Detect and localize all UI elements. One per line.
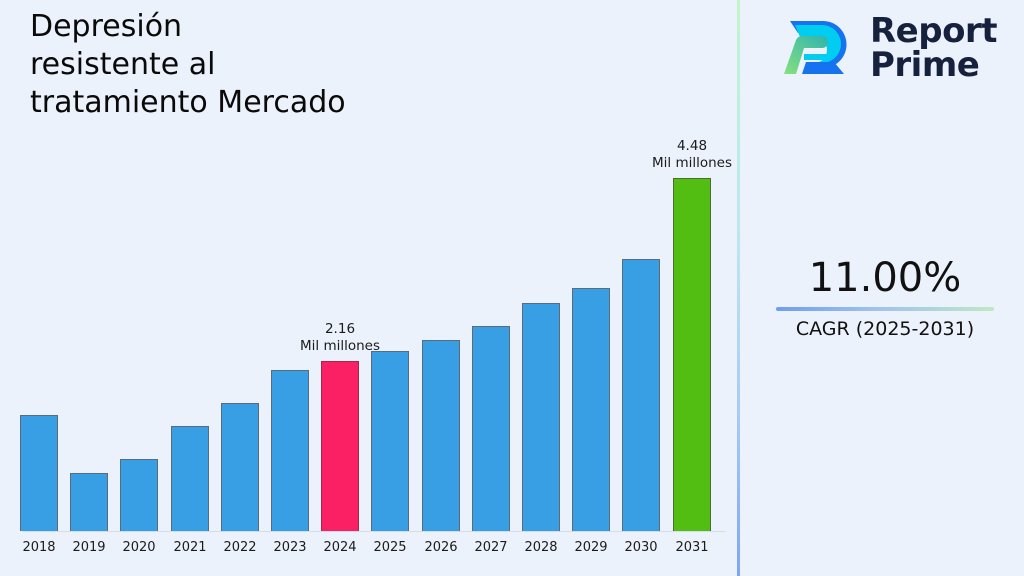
bar-2031 bbox=[673, 178, 711, 531]
vertical-gradient-divider bbox=[737, 0, 740, 576]
brand-name: Report Prime bbox=[870, 14, 997, 82]
x-axis-line bbox=[22, 531, 725, 532]
report-prime-r-logo-icon bbox=[782, 12, 856, 84]
x-label-2031: 2031 bbox=[662, 540, 722, 555]
bar-2029 bbox=[572, 288, 610, 531]
cagr-label: CAGR (2025-2031) bbox=[760, 318, 1010, 340]
cagr-block: 11.00% CAGR (2025-2031) bbox=[760, 255, 1010, 340]
bar-2021 bbox=[171, 426, 209, 531]
bar-2020 bbox=[120, 459, 158, 531]
bar-2030 bbox=[622, 259, 660, 531]
bar-2025 bbox=[371, 351, 409, 531]
cagr-divider-rule bbox=[776, 307, 994, 311]
bar-2028 bbox=[522, 303, 560, 531]
bar-chart: 2018201920202021202220232024202520262027… bbox=[0, 0, 737, 576]
bar-2023 bbox=[271, 370, 309, 531]
brand-logo: Report Prime bbox=[782, 12, 997, 84]
bar-2027 bbox=[472, 326, 510, 531]
data-label-2031: 4.48 Mil millones bbox=[622, 138, 762, 172]
bar-2018 bbox=[20, 415, 58, 531]
bar-2019 bbox=[70, 473, 108, 531]
bar-2024 bbox=[321, 361, 359, 531]
chart-infographic: Depresión resistente al tratamiento Merc… bbox=[0, 0, 1024, 576]
bar-2022 bbox=[221, 403, 259, 531]
data-label-2024: 2.16 Mil millones bbox=[270, 321, 410, 355]
bar-2026 bbox=[422, 340, 460, 531]
cagr-value: 11.00% bbox=[760, 255, 1010, 301]
